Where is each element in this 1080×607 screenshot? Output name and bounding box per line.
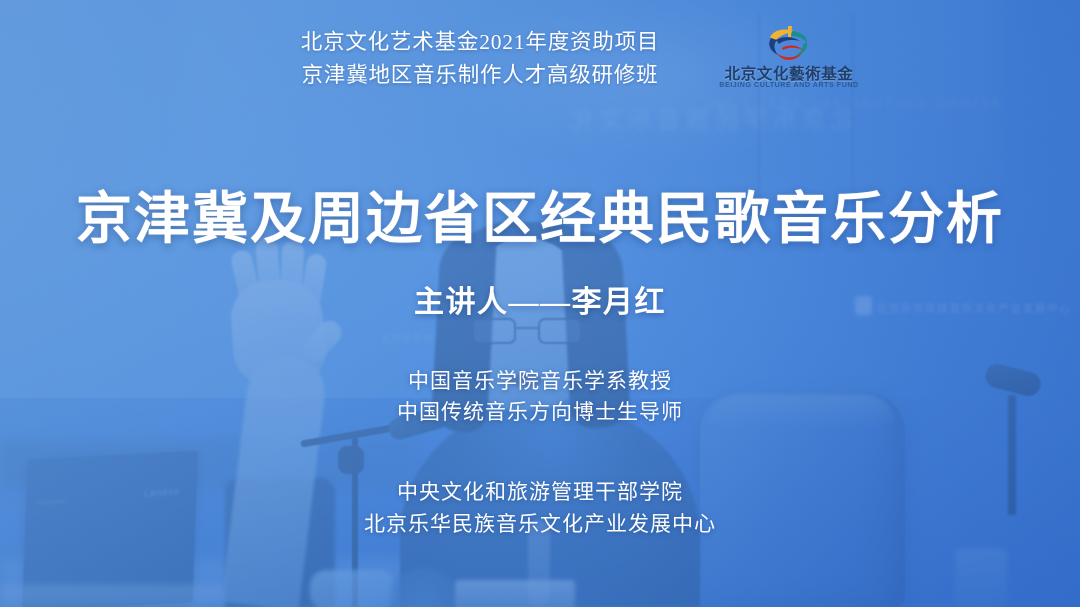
program-header-line-2: 京津冀地区音乐制作人才高级研修班 (0, 59, 1080, 92)
fund-logo-name-en: BEIJING CULTURE AND ARTS FUND (714, 81, 864, 89)
organization-line-2: 北京乐华民族音乐文化产业发展中心 (0, 508, 1080, 540)
slide-main-title: 京津冀及周边省区经典民歌音乐分析 (0, 186, 1080, 252)
organization-line-1: 中央文化和旅游管理干部学院 (0, 476, 1080, 508)
program-header-line-1: 北京文化艺术基金2021年度资助项目 (0, 26, 1080, 59)
organizing-institutions: 中央文化和旅游管理干部学院 北京乐华民族音乐文化产业发展中心 (0, 476, 1080, 540)
program-header: 北京文化艺术基金2021年度资助项目 京津冀地区音乐制作人才高级研修班 (0, 26, 1080, 92)
speaker-credential-line-1: 中国音乐学院音乐学系教授 (0, 366, 1080, 397)
slide-text-overlay: 北京文化艺术基金2021年度资助项目 京津冀地区音乐制作人才高级研修班 北京文化… (0, 0, 1080, 607)
fund-logo: 北京文化藝術基金 BEIJING CULTURE AND ARTS FUND (714, 24, 864, 96)
slide-speaker-line: 主讲人——李月红 (0, 277, 1080, 321)
speaker-credential-line-2: 中国传统音乐方向博士生导师 (0, 397, 1080, 428)
fund-logo-ribbon-icon (758, 24, 820, 64)
presentation-title-slide: 北京乐学民族音乐文化 BEIJING CULTURE AND ARTS FUND… (0, 0, 1080, 607)
speaker-credentials: 中国音乐学院音乐学系教授 中国传统音乐方向博士生导师 (0, 366, 1080, 428)
